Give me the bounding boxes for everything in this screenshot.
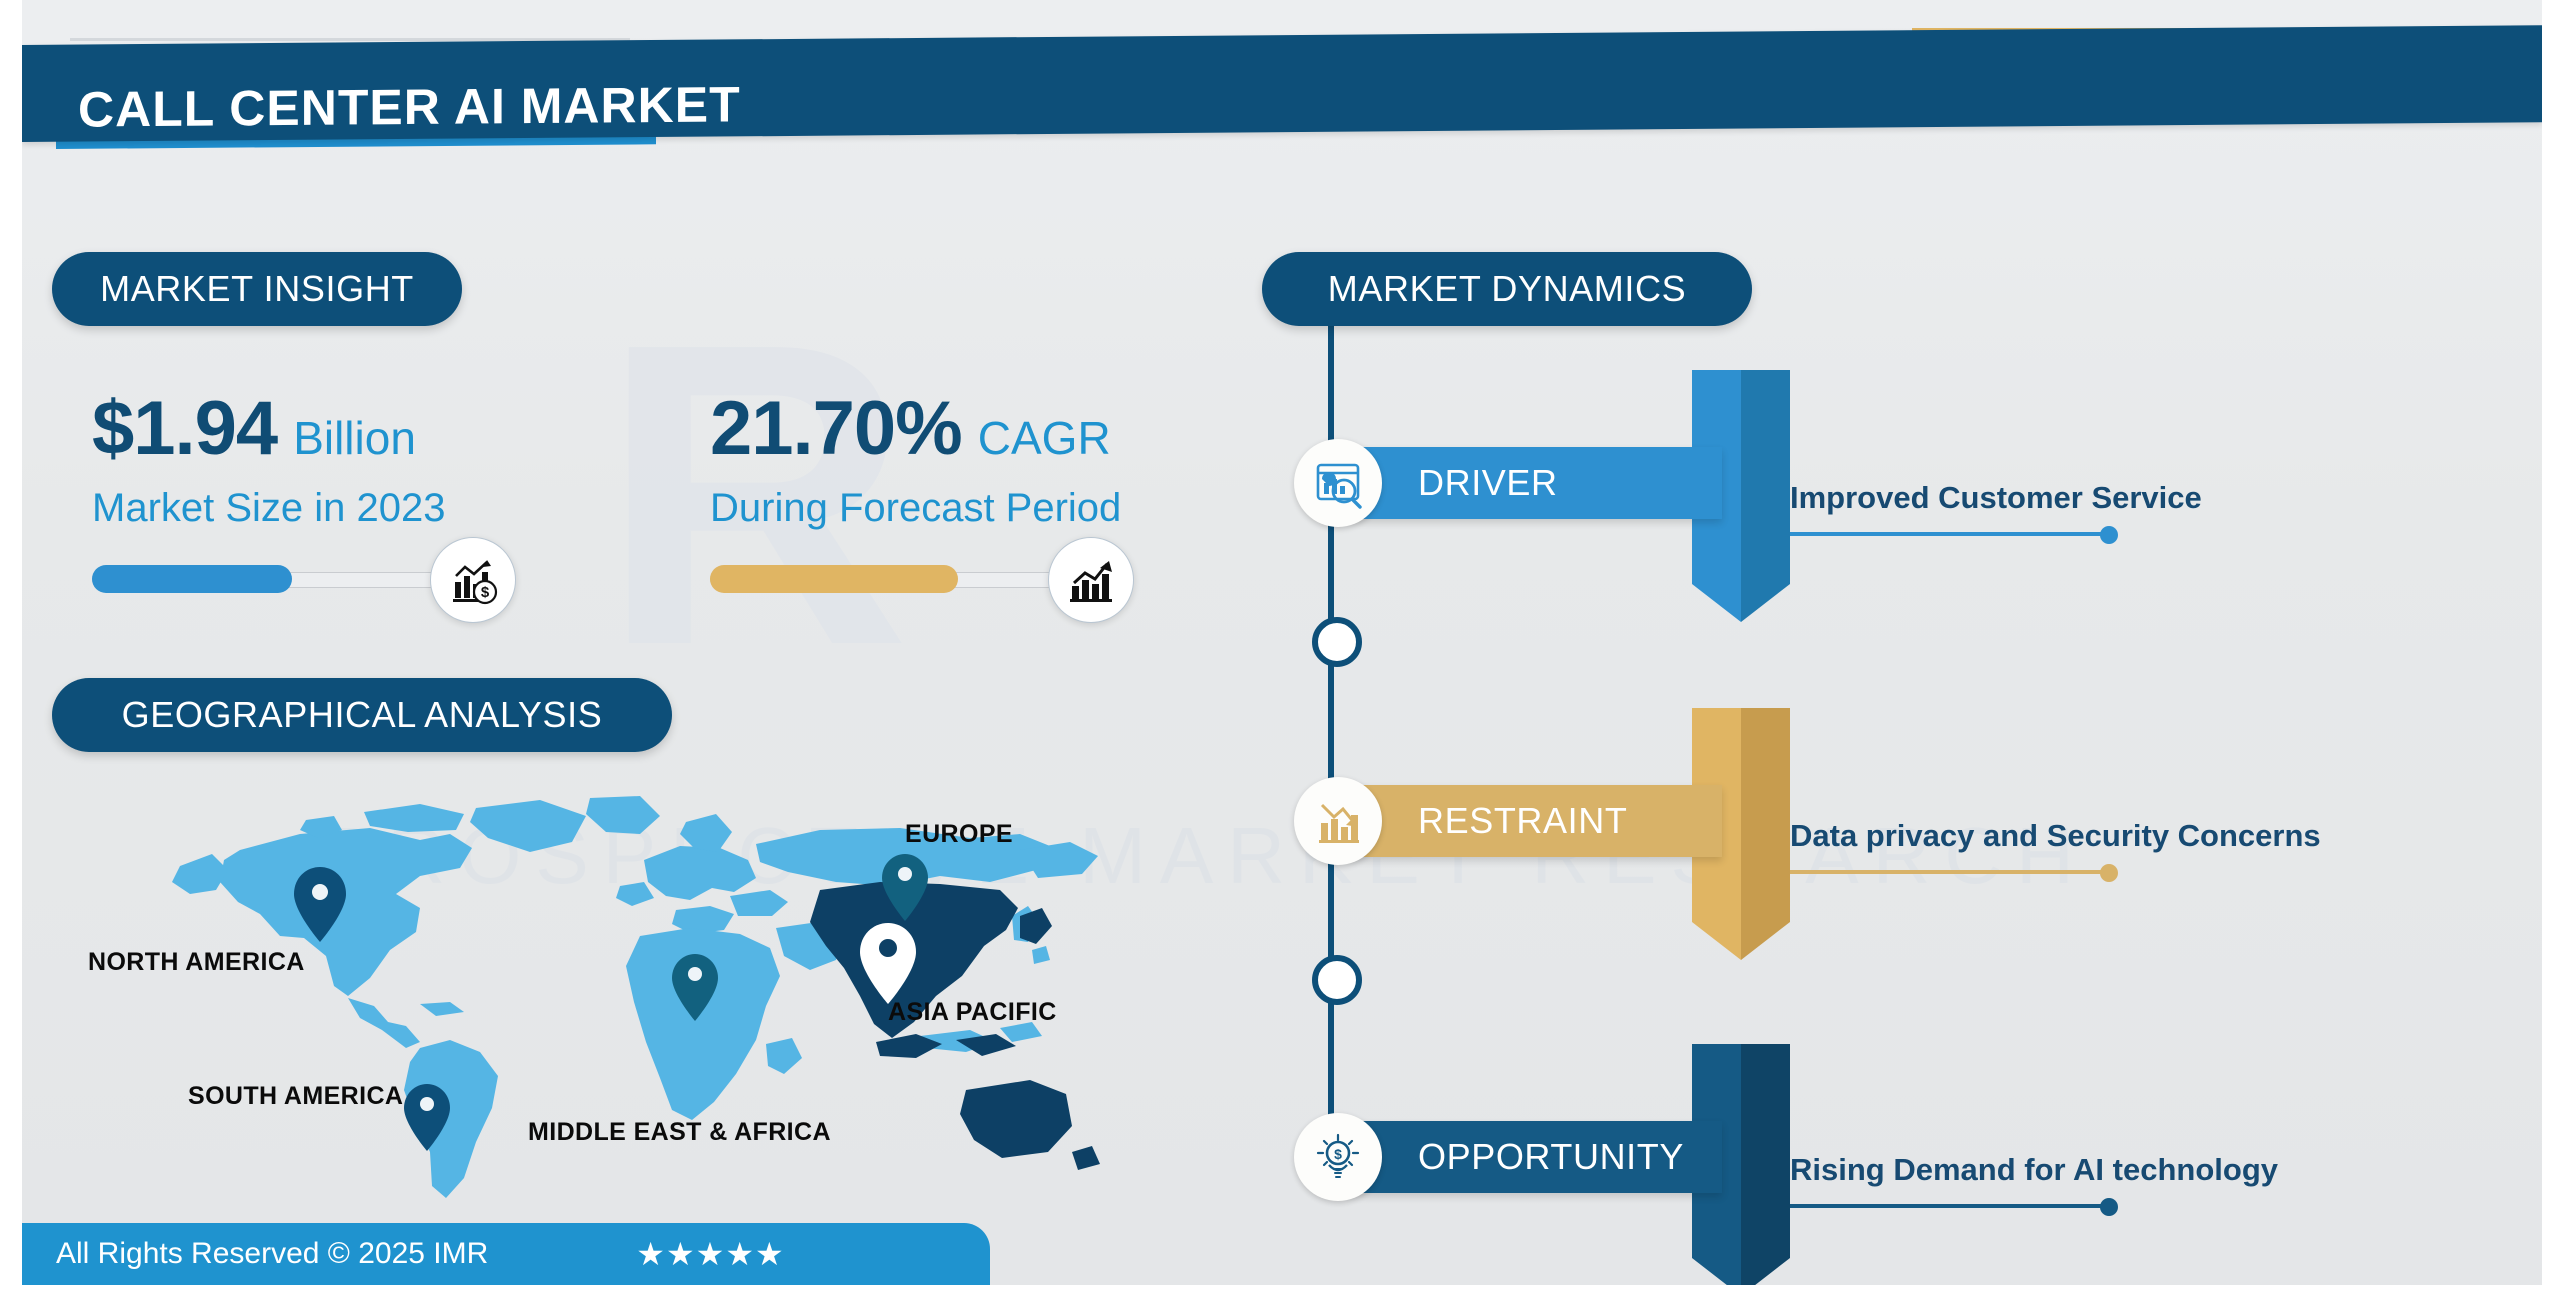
lightbulb-dollar-icon: $ xyxy=(1294,1113,1382,1201)
geographical-analysis-pill: GEOGRAPHICAL ANALYSIS xyxy=(52,678,672,752)
driver-description: Improved Customer Service xyxy=(1790,480,2202,516)
growth-chart-arrow-icon xyxy=(1048,537,1134,623)
bar-chart-dollar-icon: $ xyxy=(430,537,516,623)
restraint-bar[interactable]: RESTRAINT xyxy=(1322,785,1722,857)
infographic-canvas: R PROSPECTIVE MARKET RESEARCH CALL CENTE… xyxy=(0,0,2560,1291)
restraint-description: Data privacy and Security Concerns xyxy=(1790,818,2321,854)
svg-text:$: $ xyxy=(1334,1146,1342,1162)
map-label-north-america: NORTH AMERICA xyxy=(88,948,305,977)
bottom-gutter xyxy=(0,1285,2560,1291)
market-size-caption: Market Size in 2023 xyxy=(92,486,472,531)
market-size-progress-fill xyxy=(92,565,292,593)
opportunity-bar[interactable]: $ xyxy=(1322,1121,1722,1193)
left-gutter xyxy=(0,0,22,1291)
market-insight-pill: MARKET INSIGHT xyxy=(52,252,462,326)
restraint-underline xyxy=(1790,864,2321,880)
market-size-value: $1.94 xyxy=(92,385,277,472)
spine-node-2 xyxy=(1312,955,1362,1005)
driver-label: DRIVER xyxy=(1418,462,1558,504)
svg-text:$: $ xyxy=(481,584,490,601)
cagr-progress xyxy=(710,565,1090,593)
market-dynamics-pill: MARKET DYNAMICS xyxy=(1262,252,1752,326)
spine-node-1 xyxy=(1312,617,1362,667)
opportunity-underline xyxy=(1790,1198,2278,1214)
market-size-stat: $1.94 Billion Market Size in 2023 xyxy=(92,385,472,593)
cagr-unit: CAGR xyxy=(978,411,1111,465)
market-size-unit: Billion xyxy=(293,411,416,465)
cagr-value: 21.70% xyxy=(710,385,962,472)
restraint-label: RESTRAINT xyxy=(1418,800,1627,842)
cagr-stat: 21.70% CAGR During Forecast Period xyxy=(710,385,1121,593)
map-label-europe: EUROPE xyxy=(905,820,1013,849)
page-title: CALL CENTER AI MARKET xyxy=(78,75,741,138)
restraint-description-group: Data privacy and Security Concerns xyxy=(1790,818,2321,880)
opportunity-label: OPPORTUNITY xyxy=(1418,1136,1684,1178)
map-label-middle-east-africa: MIDDLE EAST & AFRICA xyxy=(528,1118,831,1147)
right-gutter xyxy=(2542,0,2560,1291)
map-label-asia-pacific: ASIA PACIFIC xyxy=(888,998,1057,1027)
footer-copyright: All Rights Reserved © 2025 IMR xyxy=(56,1237,488,1271)
map-label-south-america: SOUTH AMERICA xyxy=(188,1082,403,1111)
opportunity-description-group: Rising Demand for AI technology xyxy=(1790,1152,2278,1214)
driver-underline xyxy=(1790,526,2202,542)
opportunity-description: Rising Demand for AI technology xyxy=(1790,1152,2278,1188)
chart-magnifier-icon xyxy=(1294,439,1382,527)
cagr-caption: During Forecast Period xyxy=(710,486,1121,531)
market-size-progress: $ xyxy=(92,565,472,593)
footer-bar: All Rights Reserved © 2025 IMR ★★★★★ xyxy=(22,1223,990,1285)
declining-chart-icon xyxy=(1294,777,1382,865)
driver-description-group: Improved Customer Service xyxy=(1790,480,2202,542)
footer-rating-stars: ★★★★★ xyxy=(636,1235,784,1273)
cagr-progress-fill xyxy=(710,565,958,593)
driver-bar[interactable]: DRIVER xyxy=(1322,447,1722,519)
